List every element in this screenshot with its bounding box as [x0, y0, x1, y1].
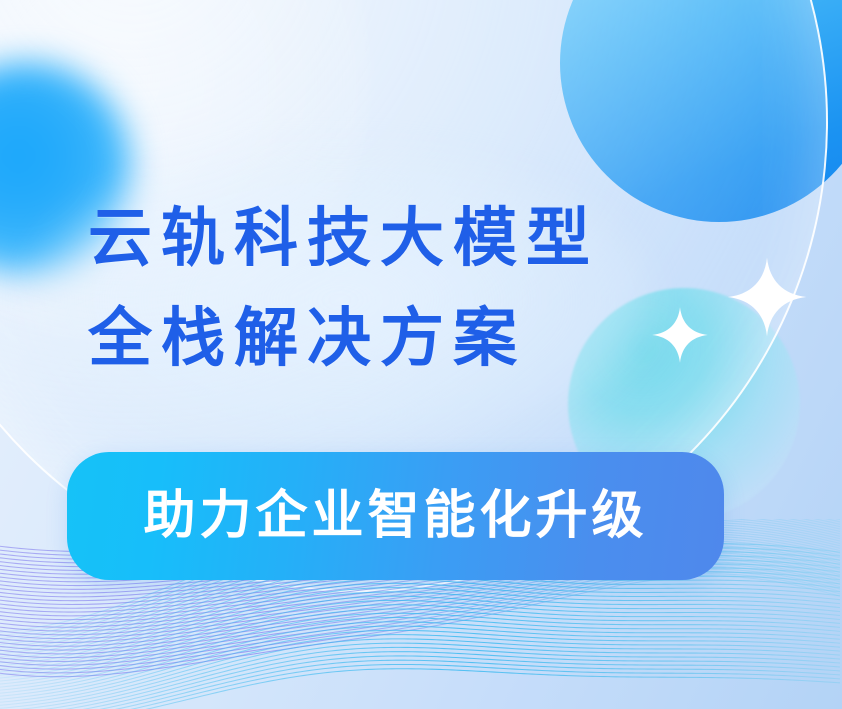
- headline-block: 云轨科技大模型 全栈解决方案: [88, 188, 599, 388]
- sparkle-large-icon: [726, 256, 808, 338]
- sparkle-small-icon: [651, 306, 709, 364]
- headline-line-1: 云轨科技大模型: [88, 188, 599, 288]
- promo-banner: 云轨科技大模型 全栈解决方案 助力企业智能化升级: [0, 0, 842, 709]
- cta-pill-button[interactable]: 助力企业智能化升级: [67, 452, 724, 580]
- cta-pill-label: 助力企业智能化升级: [143, 490, 647, 542]
- headline-line-2: 全栈解决方案: [88, 288, 599, 388]
